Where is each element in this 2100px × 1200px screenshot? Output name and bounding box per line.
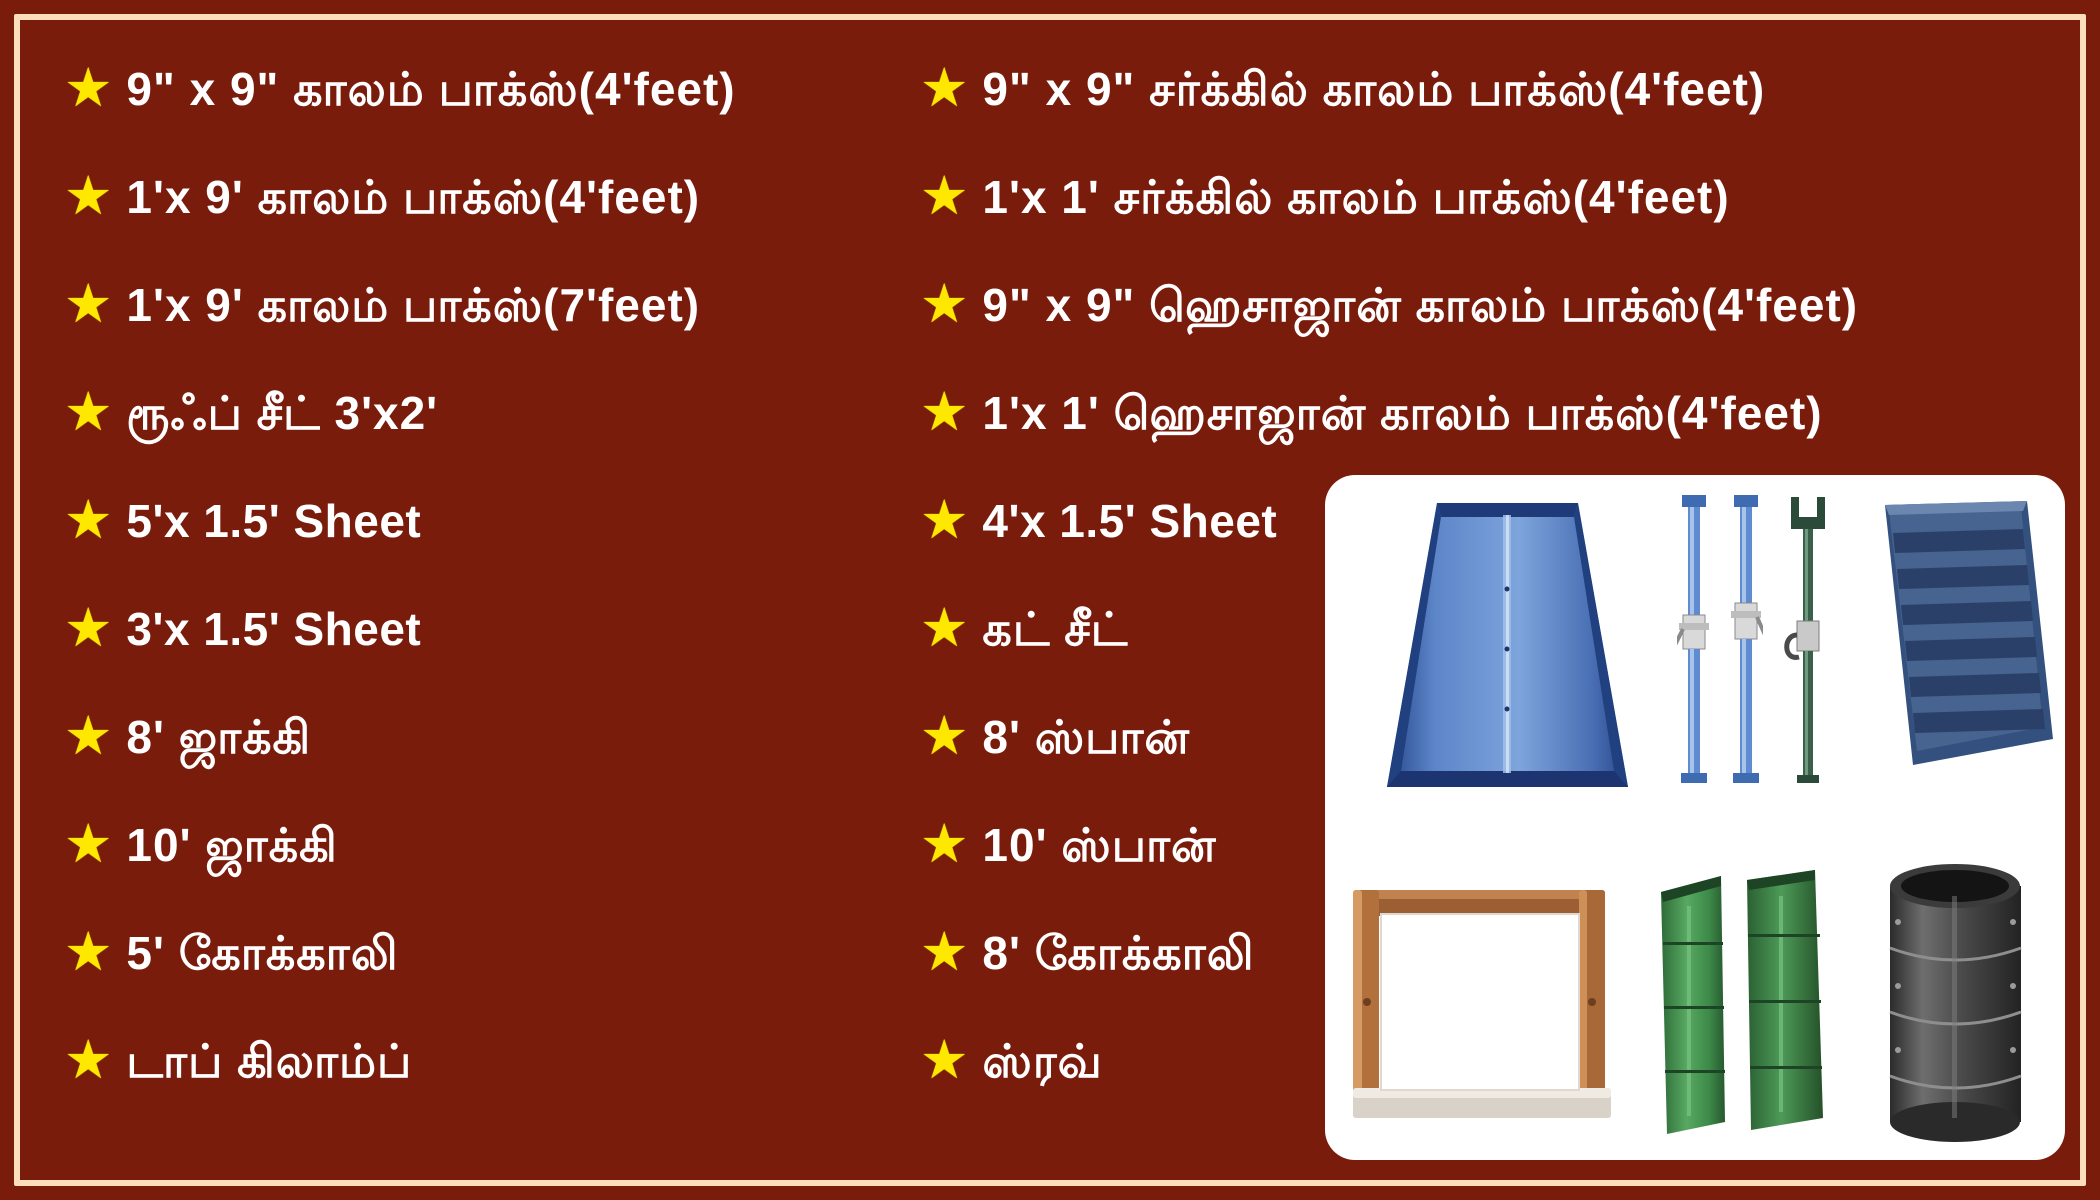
list-item-label: 8' ஜாக்கி — [126, 706, 311, 768]
star-bullet-icon: ★ — [920, 814, 968, 874]
list-item: ★ டாப் கிலாம்ப் — [64, 1030, 964, 1138]
star-bullet-icon: ★ — [64, 922, 112, 982]
star-bullet-icon: ★ — [920, 706, 968, 766]
star-bullet-icon: ★ — [920, 490, 968, 550]
list-item-label: 8' ஸ்பான் — [982, 706, 1190, 768]
list-item: ★ 8' ஜாக்கி — [64, 706, 964, 814]
list-item: ★ 1'x 9' காலம் பாக்ஸ்(4'feet) — [64, 166, 964, 274]
circular-column-mould-photo — [1868, 852, 2043, 1142]
list-item-label: 9" x 9" ஹெசாஜான் காலம் பாக்ஸ்(4'feet) — [982, 274, 1858, 336]
star-bullet-icon: ★ — [920, 922, 968, 982]
list-item-label: 1'x 9' காலம் பாக்ஸ்(7'feet) — [126, 274, 700, 336]
list-item-label: 4'x 1.5' Sheet — [982, 490, 1277, 552]
star-bullet-icon: ★ — [920, 382, 968, 442]
star-bullet-icon: ★ — [64, 598, 112, 658]
adjustable-prop-photo — [1729, 495, 1763, 785]
list-item-label: 1'x 9' காலம் பாக்ஸ்(4'feet) — [126, 166, 700, 228]
list-item: ★ 1'x 1' ஹெசாஜான் காலம் பாக்ஸ்(4'feet) — [920, 382, 2080, 490]
list-item-label: 1'x 1' சர்க்கில் காலம் பாக்ஸ்(4'feet) — [982, 166, 1729, 228]
list-item-label: டாப் கிலாம்ப் — [126, 1030, 412, 1092]
green-column-box-photo — [1647, 866, 1847, 1138]
star-bullet-icon: ★ — [920, 58, 968, 118]
adjustable-prop-photo — [1677, 495, 1711, 785]
star-bullet-icon: ★ — [64, 166, 112, 226]
prop-head-fork-photo — [1781, 495, 1835, 785]
list-item: ★ 9" x 9" ஹெசாஜான் காலம் பாக்ஸ்(4'feet) — [920, 274, 2080, 382]
star-bullet-icon: ★ — [920, 166, 968, 226]
list-item-label: 3'x 1.5' Sheet — [126, 598, 421, 660]
list-item-label: 5' கோக்காலி — [126, 922, 398, 984]
list-item: ★ 1'x 9' காலம் பாக்ஸ்(7'feet) — [64, 274, 964, 382]
list-item: ★ 1'x 1' சர்க்கில் காலம் பாக்ஸ்(4'feet) — [920, 166, 2080, 274]
blue-slab-panel-photo — [1365, 497, 1650, 797]
list-item: ★ 5' கோக்காலி — [64, 922, 964, 1030]
list-item-label: 9" x 9" காலம் பாக்ஸ்(4'feet) — [126, 58, 735, 120]
star-bullet-icon: ★ — [920, 274, 968, 334]
stair-ramp-panel-photo — [1867, 499, 2057, 769]
list-item-label: 8' கோக்காலி — [982, 922, 1254, 984]
star-bullet-icon: ★ — [64, 490, 112, 550]
star-bullet-icon: ★ — [64, 814, 112, 874]
product-list-left-column: ★ 9" x 9" காலம் பாக்ஸ்(4'feet) ★ 1'x 9' … — [64, 58, 964, 1138]
poster-root: ★ 9" x 9" காலம் பாக்ஸ்(4'feet) ★ 1'x 9' … — [0, 0, 2100, 1200]
star-bullet-icon: ★ — [920, 598, 968, 658]
product-photo-collage — [1325, 475, 2065, 1160]
star-bullet-icon: ★ — [64, 1030, 112, 1090]
list-item-label: ரூஃப் சீட் 3'x2' — [126, 382, 438, 444]
poster-content: ★ 9" x 9" காலம் பாக்ஸ்(4'feet) ★ 1'x 9' … — [20, 20, 2080, 1180]
list-item: ★ 9" x 9" காலம் பாக்ஸ்(4'feet) — [64, 58, 964, 166]
star-bullet-icon: ★ — [64, 58, 112, 118]
list-item: ★ 5'x 1.5' Sheet — [64, 490, 964, 598]
list-item-label: 9" x 9" சர்க்கில் காலம் பாக்ஸ்(4'feet) — [982, 58, 1765, 120]
star-bullet-icon: ★ — [64, 274, 112, 334]
list-item-label: 10' ஸ்பான் — [982, 814, 1216, 876]
list-item: ★ 9" x 9" சர்க்கில் காலம் பாக்ஸ்(4'feet) — [920, 58, 2080, 166]
list-item-label: ஸ்ரவ் — [982, 1030, 1102, 1092]
star-bullet-icon: ★ — [64, 706, 112, 766]
list-item: ★ 3'x 1.5' Sheet — [64, 598, 964, 706]
star-bullet-icon: ★ — [64, 382, 112, 442]
list-item-label: 5'x 1.5' Sheet — [126, 490, 421, 552]
list-item: ★ ரூஃப் சீட் 3'x2' — [64, 382, 964, 490]
wooden-frame-photo — [1347, 882, 1617, 1132]
list-item-label: கட் சீட் — [982, 598, 1128, 660]
star-bullet-icon: ★ — [920, 1030, 968, 1090]
list-item-label: 10' ஜாக்கி — [126, 814, 337, 876]
list-item: ★ 10' ஜாக்கி — [64, 814, 964, 922]
list-item-label: 1'x 1' ஹெசாஜான் காலம் பாக்ஸ்(4'feet) — [982, 382, 1822, 444]
